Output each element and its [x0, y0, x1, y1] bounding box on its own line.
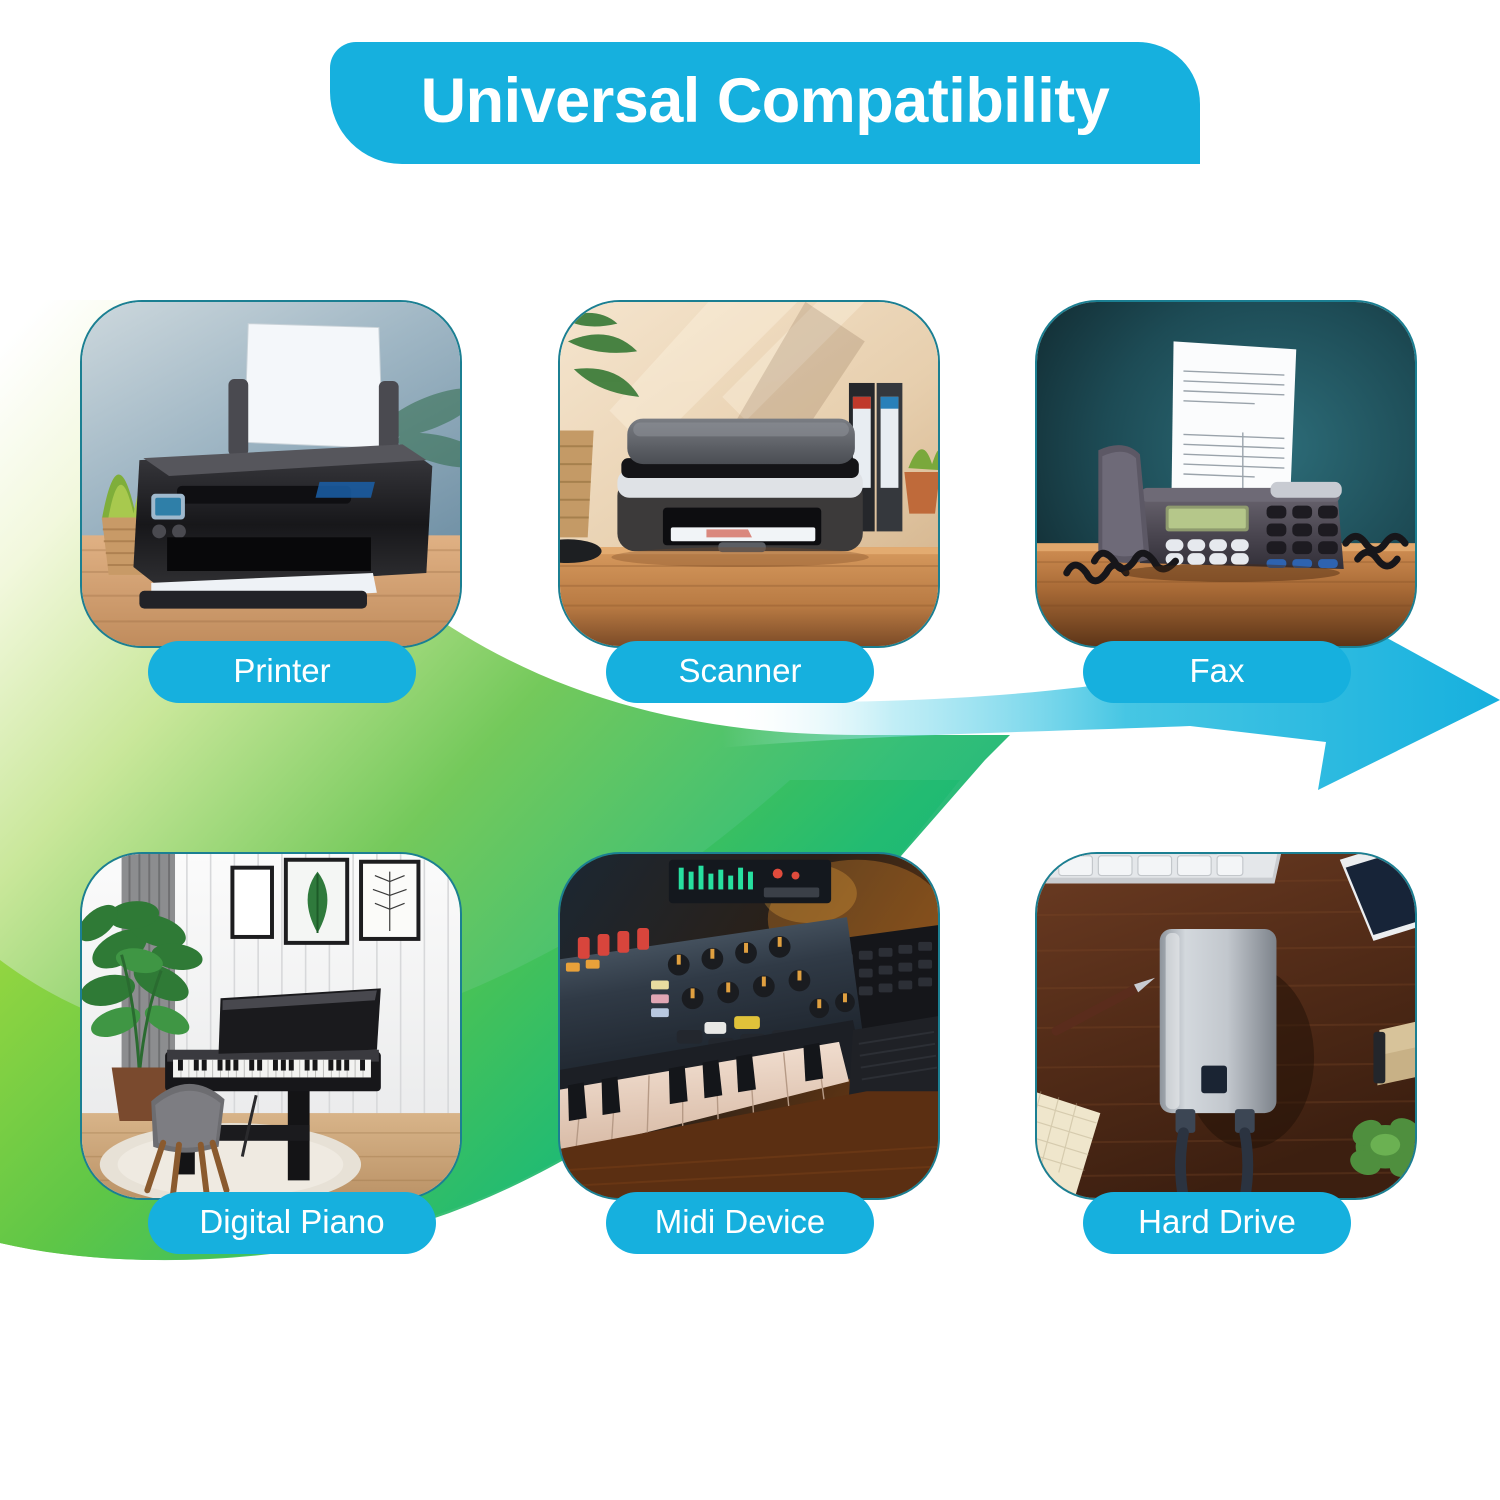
- device-label-printer[interactable]: Printer: [148, 641, 416, 703]
- device-label-hard-drive[interactable]: Hard Drive: [1083, 1192, 1351, 1254]
- device-card-hard-drive[interactable]: [1035, 852, 1417, 1200]
- hard-drive-photo: [1037, 854, 1415, 1198]
- device-label-text: Scanner: [679, 654, 802, 690]
- device-card-printer[interactable]: [80, 300, 462, 648]
- device-label-fax[interactable]: Fax: [1083, 641, 1351, 703]
- infographic-canvas: Universal Compatibility: [0, 0, 1500, 1500]
- digital-piano-photo: [82, 854, 460, 1198]
- fax-photo: [1037, 302, 1415, 646]
- device-label-digital-piano[interactable]: Digital Piano: [148, 1192, 436, 1254]
- printer-photo: [82, 302, 460, 646]
- device-card-fax[interactable]: [1035, 300, 1417, 648]
- device-label-text: Fax: [1189, 654, 1244, 690]
- midi-device-photo: [560, 854, 938, 1198]
- device-card-midi[interactable]: [558, 852, 940, 1200]
- device-label-midi[interactable]: Midi Device: [606, 1192, 874, 1254]
- device-label-text: Printer: [233, 654, 330, 690]
- device-label-text: Midi Device: [655, 1205, 826, 1241]
- page-title-banner: Universal Compatibility: [330, 42, 1200, 164]
- device-label-text: Digital Piano: [199, 1205, 384, 1241]
- scanner-photo: [560, 302, 938, 646]
- device-label-scanner[interactable]: Scanner: [606, 641, 874, 703]
- device-label-text: Hard Drive: [1138, 1205, 1296, 1241]
- background-flow-graphics: [0, 0, 1500, 1500]
- device-card-digital-piano[interactable]: [80, 852, 462, 1200]
- device-card-scanner[interactable]: [558, 300, 940, 648]
- page-title: Universal Compatibility: [421, 70, 1110, 137]
